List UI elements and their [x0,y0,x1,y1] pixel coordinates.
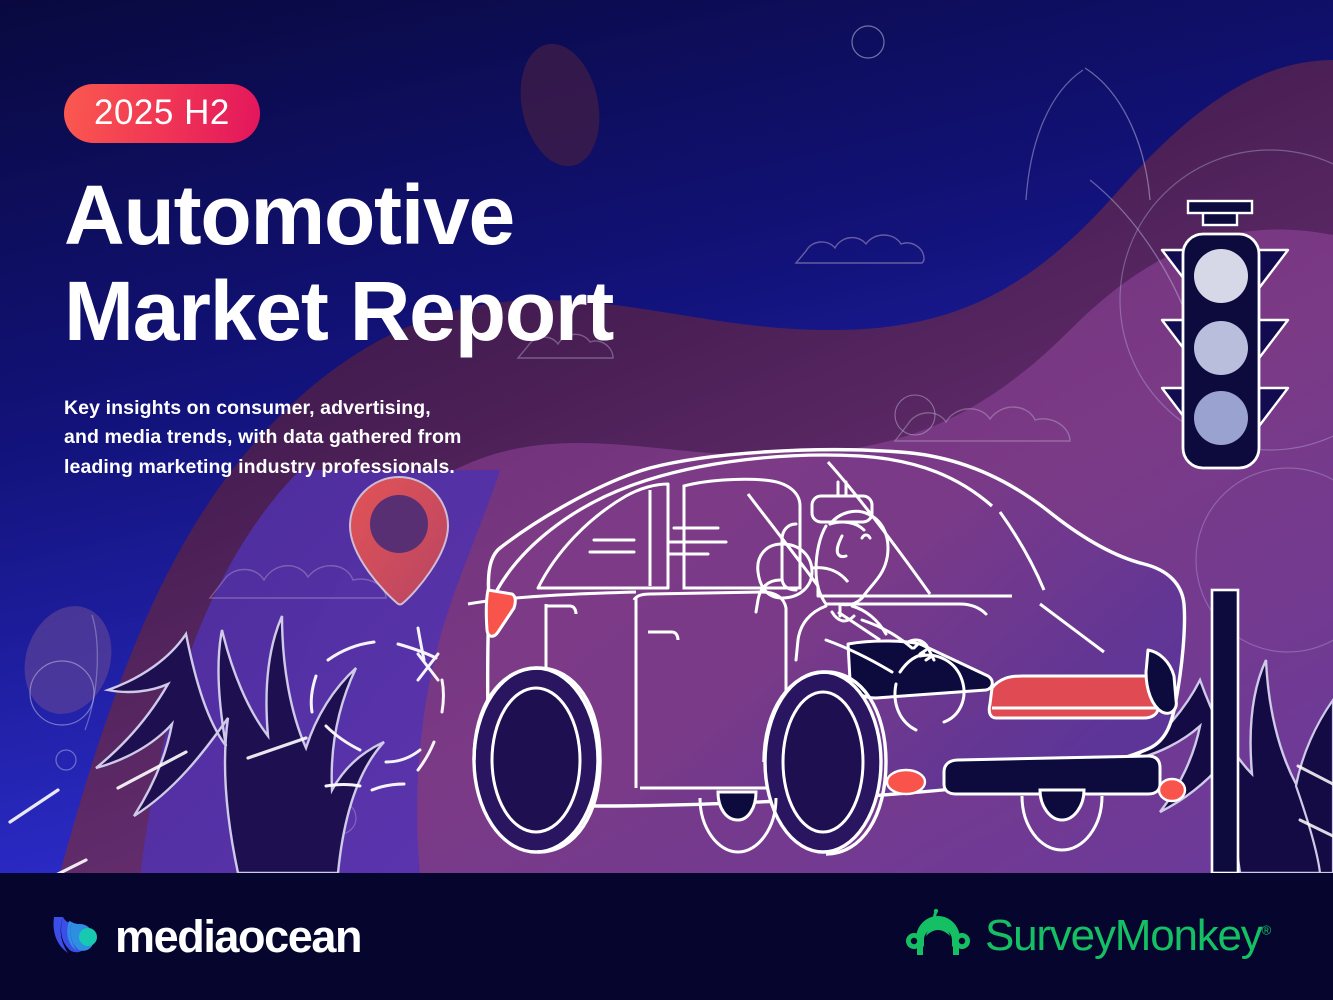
page-title: Automotive Market Report [64,173,764,353]
bumper-strip [944,756,1160,794]
subtitle-line2: and media trends, with data gathered fro… [64,426,461,448]
rear-wheel [474,668,600,852]
traffic-lamp-mid [1194,321,1248,375]
registered-mark: ® [1262,922,1270,937]
report-cover: 2025 H2 Automotive Market Report Key ins… [0,0,1333,1000]
surveymonkey-wordmark: SurveyMonkey® [985,914,1270,958]
side-marker [1159,779,1185,801]
subtitle-line1: Key insights on consumer, advertising, [64,397,431,419]
page-title-line2: Market Report [64,269,764,353]
traffic-lamp-bottom [1194,391,1248,445]
subtitle-line3: leading marketing industry professionals… [64,456,455,478]
page-title-line1: Automotive [64,168,514,262]
mediaocean-wordmark: mediaocean [115,914,361,959]
mediaocean-mark-icon [50,911,98,962]
period-badge: 2025 H2 [64,84,260,143]
surveymonkey-wordmark-text: SurveyMonkey [985,911,1262,960]
fog-light [887,770,925,794]
footer-bar: mediaocean [0,873,1333,1000]
page-subtitle: Key insights on consumer, advertising, a… [64,394,764,482]
head-light-bar [989,676,1158,718]
surveymonkey-monkey-icon [905,909,971,962]
surveymonkey-logo: SurveyMonkey® [905,909,1270,962]
cover-text-block: 2025 H2 Automotive Market Report Key ins… [64,84,764,482]
mediaocean-logo: mediaocean [50,911,361,962]
traffic-lamp-top [1194,249,1248,303]
